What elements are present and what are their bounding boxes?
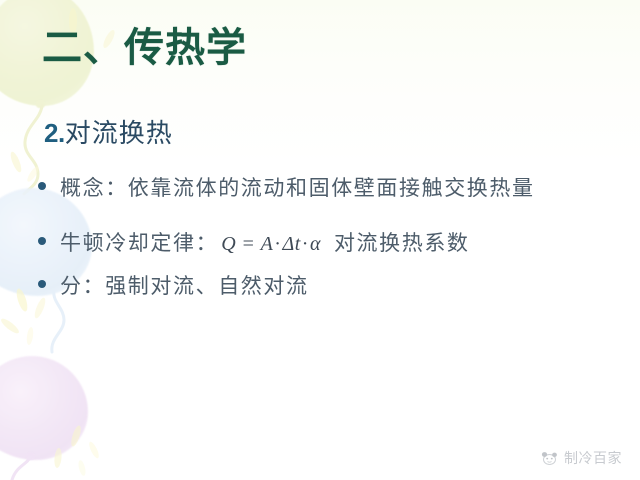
formula-factor-area: A [261, 233, 274, 255]
newton-cooling-formula: Q = A·Δt·α [218, 233, 324, 256]
slide-canvas: 二、传热学 2.对流换热 概念：依靠流体的流动和固体壁面接触交换热量 牛顿冷却定… [0, 0, 640, 480]
bullet-trailing-text: 对流换热系数 [324, 227, 470, 257]
formula-factor-delta-t: Δt [282, 233, 300, 255]
section-subtitle: 2.对流换热 [44, 118, 173, 149]
bullet-text: 分：强制对流、自然对流 [60, 276, 309, 297]
list-item: 概念：依靠流体的流动和固体壁面接触交换热量 [38, 178, 623, 227]
formula-dot-2: · [301, 233, 310, 255]
list-item: 分：强制对流、自然对流 [38, 276, 623, 325]
panda-face-logo-icon [539, 450, 559, 466]
bullet-list: 概念：依靠流体的流动和固体壁面接触交换热量 牛顿冷却定律： Q = A·Δt·α… [38, 178, 623, 325]
watermark: 制冷百家 [539, 450, 622, 466]
slide-content: 二、传热学 2.对流换热 概念：依靠流体的流动和固体壁面接触交换热量 牛顿冷却定… [0, 0, 640, 480]
bullet-dot-icon [38, 280, 46, 288]
bullet-dot-icon [38, 182, 46, 190]
bullet-dot-icon [38, 237, 46, 245]
section-subtitle-label: 对流换热 [65, 119, 173, 148]
section-number: 2. [44, 118, 65, 148]
list-item: 牛顿冷却定律： Q = A·Δt·α 对流换热系数 [38, 227, 623, 276]
formula-factor-alpha: α [310, 233, 321, 255]
watermark-label: 制冷百家 [564, 451, 622, 465]
bullet-text: 牛顿冷却定律： [60, 233, 218, 254]
formula-equals: = [242, 233, 256, 255]
bullet-text: 概念：依靠流体的流动和固体壁面接触交换热量 [60, 178, 535, 199]
page-title: 二、传热学 [42, 26, 247, 70]
formula-lhs: Q [221, 233, 236, 255]
